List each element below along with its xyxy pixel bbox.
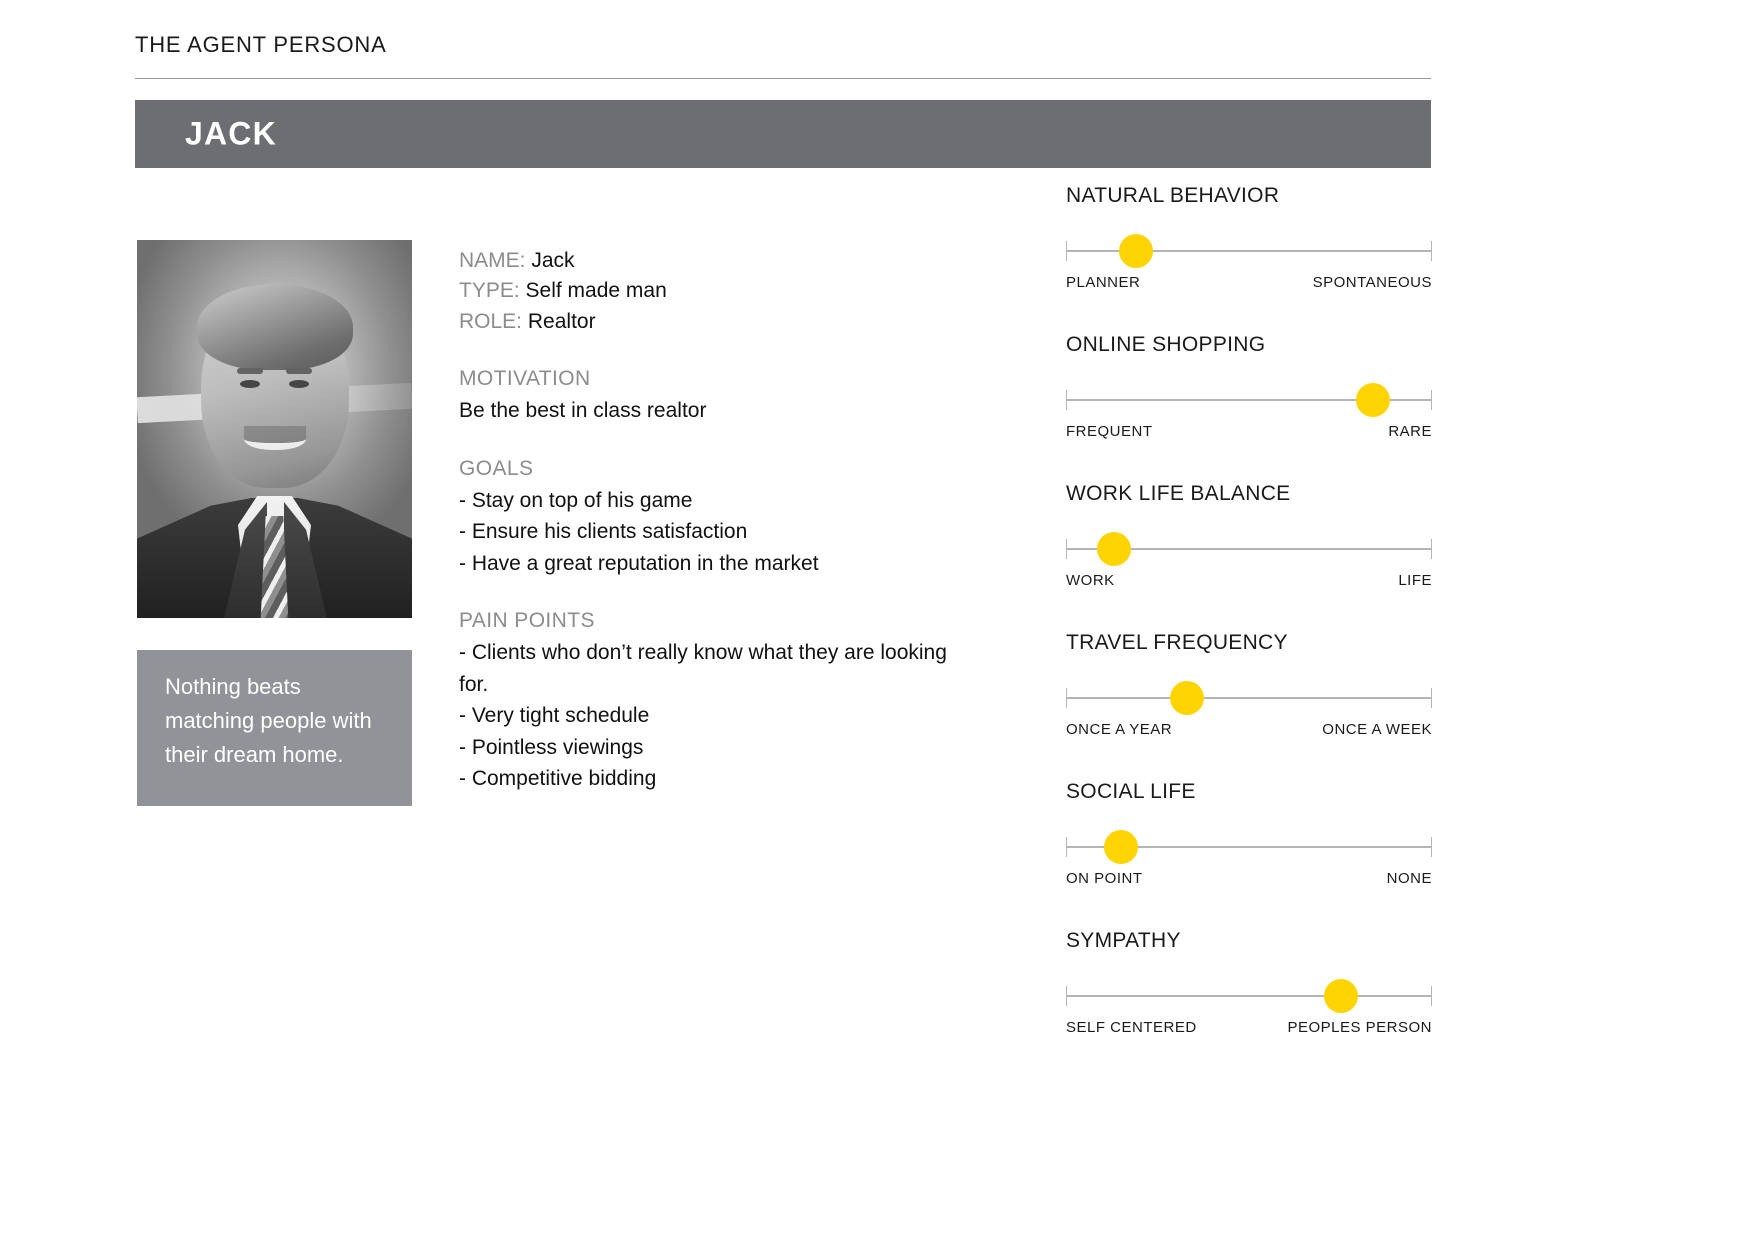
detail-name-value: Jack [531,249,574,272]
list-item: - Pointless viewings [459,732,979,764]
scale-endcap-right [1431,539,1432,559]
scale-sympathy: SYMPATHYSELF CENTEREDPEOPLES PERSON [1066,929,1432,1078]
header-divider [135,78,1431,79]
persona-details: NAME: Jack TYPE: Self made man ROLE: Rea… [459,246,979,795]
list-item: - Competitive bidding [459,763,979,795]
photo-eyebrow-left [237,368,263,374]
scale-endcap-left [1066,539,1067,559]
scale-knob[interactable] [1324,979,1358,1013]
detail-name-row: NAME: Jack [459,246,979,276]
persona-quote-box: Nothing beats matching people with their… [137,650,412,806]
photo-hair-shape [197,284,353,370]
scale-label-right: NONE [1387,870,1432,887]
motivation-text: Be the best in class realtor [459,395,979,427]
list-item: - Stay on top of his game [459,485,979,517]
detail-role-row: ROLE: Realtor [459,307,979,337]
scale-knob[interactable] [1119,234,1153,268]
scale-label-right: RARE [1388,423,1432,440]
persona-name-banner: JACK [135,100,1431,168]
detail-role-label: ROLE: [459,310,522,333]
photo-smile [244,426,306,450]
detail-type-label: TYPE: [459,279,520,302]
detail-role-value: Realtor [528,310,596,333]
scale-endcap-left [1066,688,1067,708]
scale-endpoint-labels: ONCE A YEARONCE A WEEK [1066,721,1432,738]
scale-title: ONLINE SHOPPING [1066,333,1265,357]
persona-scales: NATURAL BEHAVIORPLANNERSPONTANEOUSONLINE… [1066,184,1432,1078]
scale-endcap-left [1066,986,1067,1006]
scale-label-right: PEOPLES PERSON [1287,1019,1432,1036]
detail-name-label: NAME: [459,249,526,272]
scale-track[interactable] [1066,685,1432,711]
scale-online-shopping: ONLINE SHOPPINGFREQUENTRARE [1066,333,1432,482]
goals-heading: GOALS [459,457,979,481]
scale-track[interactable] [1066,238,1432,264]
detail-type-value: Self made man [526,279,667,302]
scale-endcap-left [1066,241,1067,261]
scale-endcap-right [1431,837,1432,857]
scale-natural-behavior: NATURAL BEHAVIORPLANNERSPONTANEOUS [1066,184,1432,333]
scale-label-left: WORK [1066,572,1115,589]
scale-label-left: FREQUENT [1066,423,1153,440]
scale-track[interactable] [1066,387,1432,413]
photo-eye-left [240,380,260,388]
scale-endpoint-labels: FREQUENTRARE [1066,423,1432,440]
scale-endcap-right [1431,241,1432,261]
page-title: THE AGENT PERSONA [135,32,387,58]
motivation-heading: MOTIVATION [459,367,979,391]
scale-endpoint-labels: PLANNERSPONTANEOUS [1066,274,1432,291]
scale-travel-frequency: TRAVEL FREQUENCYONCE A YEARONCE A WEEK [1066,631,1432,780]
scale-endcap-right [1431,390,1432,410]
scale-track-line [1066,697,1432,699]
scale-label-right: ONCE A WEEK [1322,721,1432,738]
scale-knob[interactable] [1097,532,1131,566]
scale-work-life-balance: WORK LIFE BALANCEWORKLIFE [1066,482,1432,631]
portrait-photo [137,240,412,618]
scale-title: SOCIAL LIFE [1066,780,1196,804]
list-item: - Clients who don’t really know what the… [459,637,979,700]
scale-label-left: PLANNER [1066,274,1140,291]
goals-list: - Stay on top of his game- Ensure his cl… [459,485,979,580]
scale-label-right: SPONTANEOUS [1313,274,1432,291]
detail-type-row: TYPE: Self made man [459,276,979,306]
scale-endcap-left [1066,390,1067,410]
motivation-body: Be the best in class realtor [459,395,979,427]
scale-track[interactable] [1066,536,1432,562]
persona-page: THE AGENT PERSONA JACK Nothing beats mat… [0,0,1754,1241]
photo-eyebrow-right [286,368,312,374]
persona-name: JACK [185,116,277,153]
scale-endcap-right [1431,986,1432,1006]
scale-endpoint-labels: ON POINTNONE [1066,870,1432,887]
photo-eye-right [289,380,309,388]
pain-points-list: - Clients who don’t really know what the… [459,637,979,795]
scale-endpoint-labels: WORKLIFE [1066,572,1432,589]
scale-track[interactable] [1066,834,1432,860]
scale-knob[interactable] [1104,830,1138,864]
scale-endcap-left [1066,837,1067,857]
pain-points-heading: PAIN POINTS [459,609,979,633]
scale-label-left: ONCE A YEAR [1066,721,1172,738]
scale-social-life: SOCIAL LIFEON POINTNONE [1066,780,1432,929]
scale-knob[interactable] [1356,383,1390,417]
persona-quote-text: Nothing beats matching people with their… [165,670,394,772]
scale-title: WORK LIFE BALANCE [1066,482,1290,506]
list-item: - Very tight schedule [459,700,979,732]
list-item: - Have a great reputation in the market [459,548,979,580]
scale-label-left: ON POINT [1066,870,1143,887]
scale-title: TRAVEL FREQUENCY [1066,631,1288,655]
scale-label-left: SELF CENTERED [1066,1019,1197,1036]
scale-label-right: LIFE [1398,572,1432,589]
scale-track[interactable] [1066,983,1432,1009]
scale-endpoint-labels: SELF CENTEREDPEOPLES PERSON [1066,1019,1432,1036]
scale-track-line [1066,995,1432,997]
scale-title: NATURAL BEHAVIOR [1066,184,1279,208]
list-item: - Ensure his clients satisfaction [459,516,979,548]
scale-knob[interactable] [1170,681,1204,715]
scale-title: SYMPATHY [1066,929,1181,953]
scale-endcap-right [1431,688,1432,708]
